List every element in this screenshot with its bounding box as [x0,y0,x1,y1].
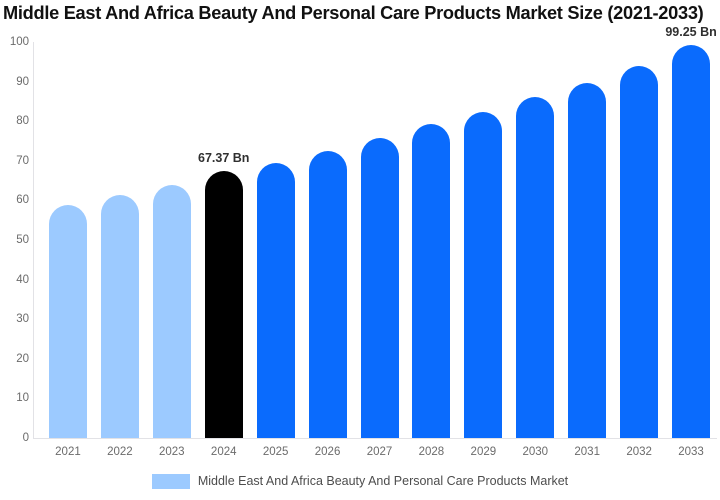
bar-2021[interactable] [49,205,87,438]
bar-2032[interactable] [620,66,658,438]
bar-group-2027[interactable] [361,42,399,438]
x-axis-tick-2030: 2030 [516,444,554,460]
y-axis-tick-100: 100 [1,37,29,48]
x-axis-tick-labels: 2021202220232024202520262027202820292030… [33,444,717,462]
y-axis-tick-0: 0 [1,433,29,444]
bar-2027[interactable] [361,138,399,438]
bar-group-2022[interactable] [101,42,139,438]
chart-legend[interactable]: Middle East And Africa Beauty And Person… [0,470,720,492]
bar-value-label-2024: 67.37 Bn [198,151,249,165]
bar-group-2026[interactable] [309,42,347,438]
bar-2025[interactable] [257,163,295,438]
bar-2031[interactable] [568,83,606,438]
x-axis-tick-2026: 2026 [309,444,347,460]
x-axis-tick-2023: 2023 [153,444,191,460]
bar-group-2021[interactable] [49,42,87,438]
bar-2029[interactable] [464,112,502,438]
bar-2024[interactable] [205,171,243,438]
x-axis-tick-2025: 2025 [257,444,295,460]
bar-2033[interactable] [672,45,710,438]
x-axis-tick-2029: 2029 [464,444,502,460]
bar-group-2024[interactable]: 67.37 Bn [205,42,243,438]
plot-area: 67.37 Bn99.25 Bn [33,42,717,438]
x-axis-tick-2033: 2033 [672,444,710,460]
bar-2030[interactable] [516,97,554,438]
bar-group-2025[interactable] [257,42,295,438]
x-axis-line [33,438,717,439]
x-axis-tick-2027: 2027 [361,444,399,460]
bar-group-2031[interactable] [568,42,606,438]
bar-group-2029[interactable] [464,42,502,438]
bar-group-2032[interactable] [620,42,658,438]
bar-group-2033[interactable]: 99.25 Bn [672,42,710,438]
bar-2023[interactable] [153,185,191,438]
y-axis-tick-60: 60 [1,195,29,206]
y-axis-tick-50: 50 [1,235,29,246]
x-axis-tick-2031: 2031 [568,444,606,460]
bar-group-2030[interactable] [516,42,554,438]
y-axis-tick-90: 90 [1,77,29,88]
legend-swatch-icon [152,474,190,489]
x-axis-tick-2021: 2021 [49,444,87,460]
y-axis-tick-70: 70 [1,156,29,167]
y-axis-tick-labels: 1009080706050403020100 [0,42,29,438]
legend-label: Middle East And Africa Beauty And Person… [198,474,568,489]
y-axis-tick-20: 20 [1,354,29,365]
y-axis-tick-30: 30 [1,314,29,325]
y-axis-tick-10: 10 [1,393,29,404]
x-axis-tick-2022: 2022 [101,444,139,460]
bar-value-label-2033: 99.25 Bn [665,25,716,39]
bar-2026[interactable] [309,151,347,438]
bar-group-2028[interactable] [412,42,450,438]
bar-2028[interactable] [412,124,450,438]
y-axis-tick-80: 80 [1,116,29,127]
chart-title: Middle East And Africa Beauty And Person… [3,1,708,25]
bar-chart: Middle East And Africa Beauty And Person… [0,0,720,500]
y-axis-tick-40: 40 [1,275,29,286]
x-axis-tick-2032: 2032 [620,444,658,460]
x-axis-tick-2028: 2028 [412,444,450,460]
bar-2022[interactable] [101,195,139,438]
bar-group-2023[interactable] [153,42,191,438]
x-axis-tick-2024: 2024 [205,444,243,460]
